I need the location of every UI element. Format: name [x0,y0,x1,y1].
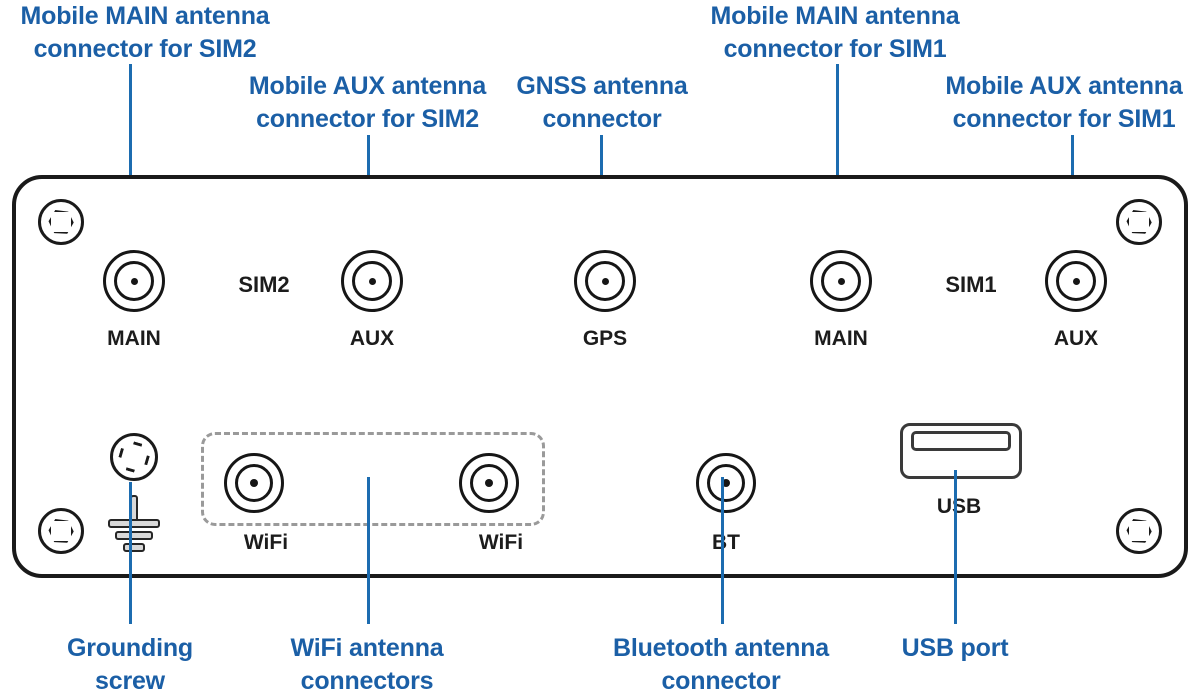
corner-screw-bottom-left [38,508,84,554]
connector-center-pin [602,278,609,285]
connector-center-pin [485,479,493,487]
label-usb: USB [899,495,1019,519]
callout-wifi: WiFi antenna connectors [252,632,482,695]
label-aux-sim1: AUX [1016,327,1136,351]
phillips-cross-icon [115,438,152,475]
label-main-sim1: MAIN [781,327,901,351]
connector-center-pin [1073,278,1080,285]
label-main-sim2: MAIN [74,327,194,351]
callout-main-sim2: Mobile MAIN antenna connector for SIM2 [0,0,290,65]
connector-aux-sim2[interactable] [341,250,403,312]
leader-wifi [367,477,370,624]
callout-bluetooth: Bluetooth antenna connector [592,632,850,695]
corner-screw-top-left [38,199,84,245]
ground-symbol-bar-3 [123,543,145,552]
label-gps: GPS [545,327,665,351]
label-aux-sim2: AUX [312,327,432,351]
connector-center-pin [131,278,138,285]
marking-sim2: SIM2 [204,272,324,298]
connector-center-pin [838,278,845,285]
label-bt: BT [666,531,786,555]
leader-bluetooth [721,477,724,624]
connector-wifi-right[interactable] [459,453,519,513]
leader-grounding [129,482,132,624]
connector-center-pin [369,278,376,285]
callout-aux-sim2: Mobile AUX antenna connector for SIM2 [225,70,510,135]
hex-socket-icon [48,518,74,544]
leader-usb [954,470,957,624]
callout-gnss: GNSS antenna connector [492,70,712,135]
label-wifi-left: WiFi [206,531,326,555]
panel-diagram: Mobile MAIN antenna connector for SIM2 M… [0,0,1200,695]
ground-symbol-bar-2 [115,531,153,540]
corner-screw-bottom-right [1116,508,1162,554]
connector-main-sim1[interactable] [810,250,872,312]
callout-usb: USB port [855,632,1055,665]
label-wifi-right: WiFi [441,531,561,555]
hex-socket-icon [1126,209,1152,235]
callout-main-sim1: Mobile MAIN antenna connector for SIM1 [690,0,980,65]
ground-symbol-bar-1 [108,519,160,528]
callout-grounding: Grounding screw [20,632,240,695]
connector-wifi-left[interactable] [224,453,284,513]
usb-tongue [911,431,1011,451]
router-front-panel: MAIN AUX GPS MAIN AUX SIM2 SIM1 [12,175,1188,578]
marking-sim1: SIM1 [911,272,1031,298]
callout-aux-sim1: Mobile AUX antenna connector for SIM1 [928,70,1200,135]
connector-main-sim2[interactable] [103,250,165,312]
connector-bt[interactable] [696,453,756,513]
connector-aux-sim1[interactable] [1045,250,1107,312]
hex-socket-icon [48,209,74,235]
connector-center-pin [250,479,258,487]
corner-screw-top-right [1116,199,1162,245]
connector-gps[interactable] [574,250,636,312]
usb-port[interactable] [900,423,1022,479]
hex-socket-icon [1126,518,1152,544]
grounding-screw[interactable] [110,433,158,481]
